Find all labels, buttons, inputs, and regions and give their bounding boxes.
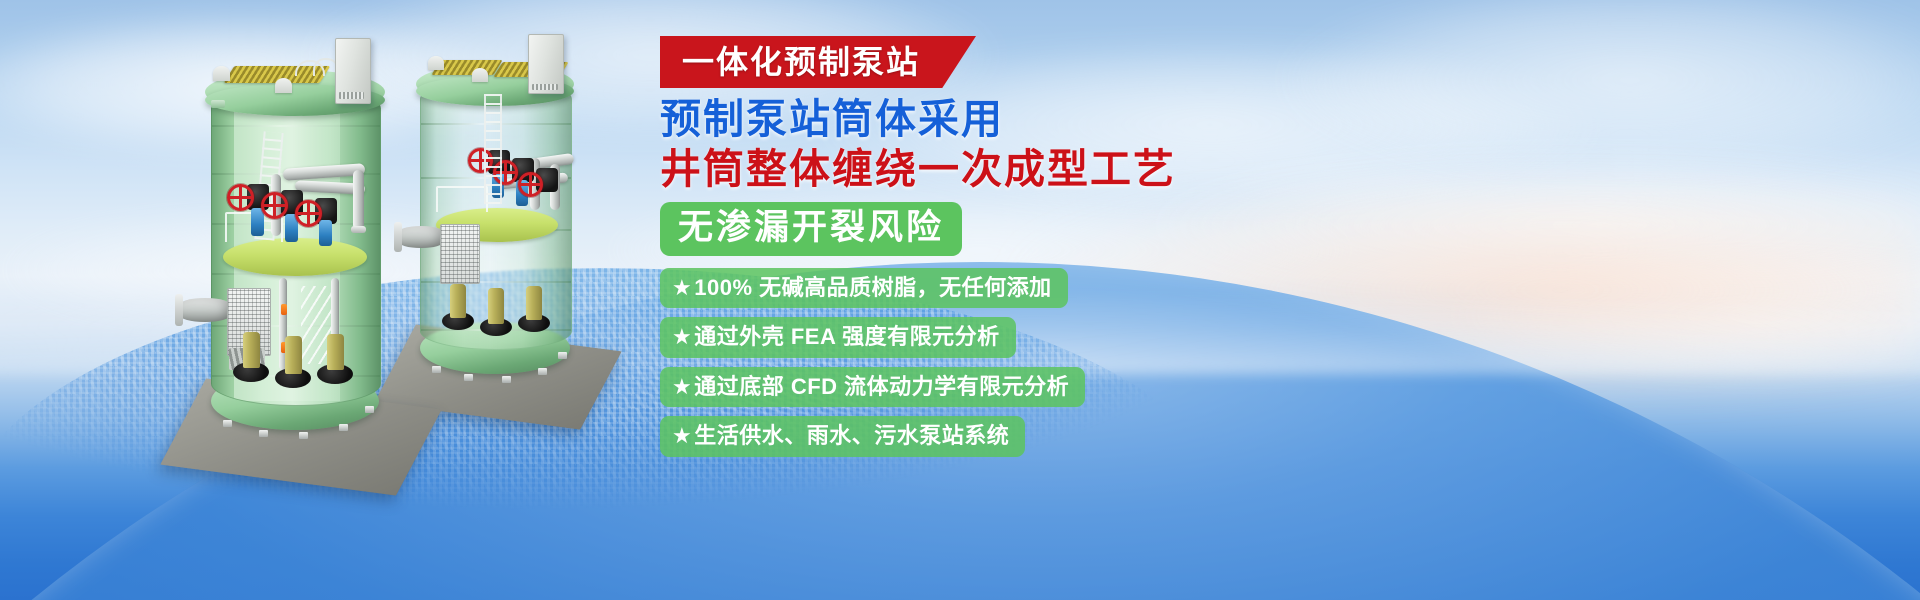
star-icon: ★ [672, 374, 692, 399]
gate-valve-actuator [319, 220, 332, 246]
cabinet-louver [532, 84, 558, 90]
valve-handwheel [227, 184, 254, 211]
feature-label: 通过外壳 FEA 强度有限元分析 [694, 324, 999, 349]
riser-pipe [353, 170, 364, 230]
submersible-pump [285, 336, 302, 374]
anchor-bolt [538, 368, 547, 375]
star-icon: ★ [672, 275, 692, 300]
feature-list: ★100% 无碱高品质树脂，无任何添加 ★通过外壳 FEA 强度有限元分析 ★通… [660, 268, 1760, 466]
cabinet-louver [339, 92, 364, 99]
anchor-bolt [365, 406, 374, 413]
valve-handwheel [295, 200, 322, 227]
headline-line-red: 井筒整体缠绕一次成型工艺 [660, 146, 1760, 193]
marketing-text-panel: 一体化预制泵站 预制泵站筒体采用 井筒整体缠绕一次成型工艺 无渗漏开裂风险 ★1… [660, 36, 1760, 466]
star-icon: ★ [672, 324, 692, 349]
feature-label: 生活供水、雨水、污水泵站系统 [694, 423, 1009, 448]
feature-row: ★100% 无碱高品质树脂，无任何添加 [660, 268, 1760, 318]
feature-label: 通过底部 CFD 流体动力学有限元分析 [694, 374, 1069, 399]
feature-item: ★通过底部 CFD 流体动力学有限元分析 [660, 367, 1085, 408]
anchor-bolt [259, 430, 268, 437]
level-indicator [281, 304, 287, 315]
star-icon: ★ [672, 423, 692, 448]
vent-cap [275, 78, 292, 93]
product-promo-banner: 一体化预制泵站 预制泵站筒体采用 井筒整体缠绕一次成型工艺 无渗漏开裂风险 ★1… [0, 0, 1920, 600]
submersible-pump [526, 286, 542, 320]
vent-cap [213, 66, 230, 81]
valve-handwheel [261, 192, 288, 219]
inlet-flange [175, 294, 183, 326]
key-benefit-badge: 无渗漏开裂风险 [660, 202, 962, 256]
anchor-bolt [558, 352, 567, 359]
anchor-bolt [223, 420, 232, 427]
product-category-tag: 一体化预制泵站 [660, 36, 976, 88]
product-tag-wrapper: 一体化预制泵站 [660, 36, 976, 88]
feature-row: ★通过外壳 FEA 强度有限元分析 [660, 317, 1760, 367]
valve-handwheel [518, 172, 543, 197]
product-image-pump-station-cutaway [175, 42, 515, 482]
feature-label: 100% 无碱高品质树脂，无任何添加 [694, 275, 1051, 300]
anchor-bolt [339, 424, 348, 431]
pipe-flange [351, 226, 366, 233]
feature-row: ★通过底部 CFD 流体动力学有限元分析 [660, 367, 1760, 417]
submersible-pump [327, 334, 344, 370]
side-bracket [211, 100, 225, 108]
feature-item: ★生活供水、雨水、污水泵站系统 [660, 416, 1025, 457]
feature-row: ★生活供水、雨水、污水泵站系统 [660, 416, 1760, 466]
interior-platform [223, 238, 367, 276]
anchor-bolt [299, 432, 308, 439]
inlet-pipe [179, 298, 231, 322]
feature-item: ★100% 无碱高品质树脂，无任何添加 [660, 268, 1068, 309]
feature-item: ★通过外壳 FEA 强度有限元分析 [660, 317, 1016, 358]
headline-line-blue: 预制泵站筒体采用 [660, 96, 1760, 143]
submersible-pump [243, 332, 260, 368]
